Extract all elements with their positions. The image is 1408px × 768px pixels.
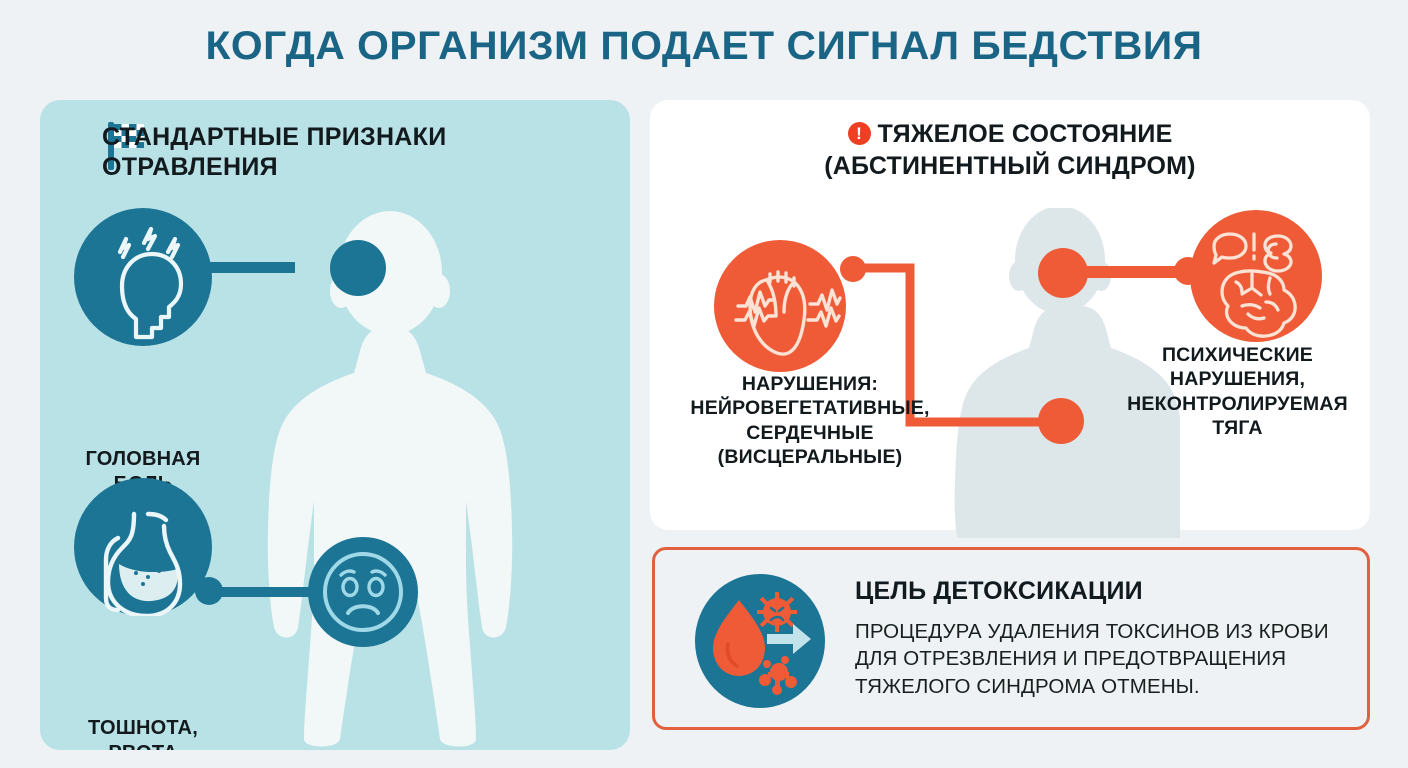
stomach-bubble[interactable] (74, 478, 212, 616)
stomach-icon (74, 478, 212, 616)
sad-face-bubble[interactable] (308, 537, 418, 647)
body-silhouette-left (245, 205, 535, 750)
page-title: КОГДА ОРГАНИЗМ ПОДАЕТ СИГНАЛ БЕДСТВИЯ (0, 24, 1408, 69)
brain-bubble[interactable] (1190, 210, 1322, 342)
left-panel-header: СТАНДАРТНЫЕ ПРИЗНАКИ ОТРАВЛЕНИЯ (102, 122, 572, 182)
headache-bubble[interactable] (74, 208, 212, 346)
right-panel: ТЯЖЕЛОЕ СОСТОЯНИЕ (АБСТИНЕНТНЫЙ СИНДРОМ) (650, 100, 1370, 530)
detox-icon-bubble (695, 574, 825, 708)
detox-body: ПРОЦЕДУРА УДАЛЕНИЯ ТОКСИНОВ ИЗ КРОВИ ДЛЯ… (855, 618, 1355, 700)
nausea-label: ТОШНОТА, РВОТА (62, 716, 224, 750)
heart-bubble[interactable] (714, 240, 846, 372)
connector-mental (1082, 266, 1186, 278)
head-headache-icon (74, 208, 212, 346)
left-panel: СТАНДАРТНЫЕ ПРИЗНАКИ ОТРАВЛЕНИЯ ГОЛОВНАЯ… (40, 100, 630, 750)
detox-card: ЦЕЛЬ ДЕТОКСИКАЦИИ ПРОЦЕДУРА УДАЛЕНИЯ ТОК… (652, 547, 1370, 730)
mental-label: ПСИХИЧЕСКИЕ НАРУШЕНИЯ, НЕКОНТРОЛИРУЕМАЯ … (1105, 343, 1370, 441)
right-panel-header: ТЯЖЕЛОЕ СОСТОЯНИЕ (АБСТИНЕНТНЫЙ СИНДРОМ) (650, 118, 1370, 182)
right-panel-header-line2: (АБСТИНЕНТНЫЙ СИНДРОМ) (650, 150, 1370, 182)
warning-exclamation-icon (848, 122, 871, 145)
visceral-label: НАРУШЕНИЯ: НЕЙРОВЕГЕТАТИВНЫЕ, СЕРДЕЧНЫЕ … (645, 372, 975, 470)
blood-drop-detox-icon (695, 574, 825, 708)
sad-face-icon (308, 537, 418, 647)
detox-title: ЦЕЛЬ ДЕТОКСИКАЦИИ (855, 577, 1143, 606)
heart-ecg-icon (714, 240, 846, 372)
right-panel-header-line1: ТЯЖЕЛОЕ СОСТОЯНИЕ (878, 120, 1173, 148)
body-marker-head[interactable] (330, 240, 386, 296)
brain-thoughts-icon (1190, 210, 1322, 342)
infographic-root: КОГДА ОРГАНИЗМ ПОДАЕТ СИГНАЛ БЕДСТВИЯ (0, 0, 1408, 768)
